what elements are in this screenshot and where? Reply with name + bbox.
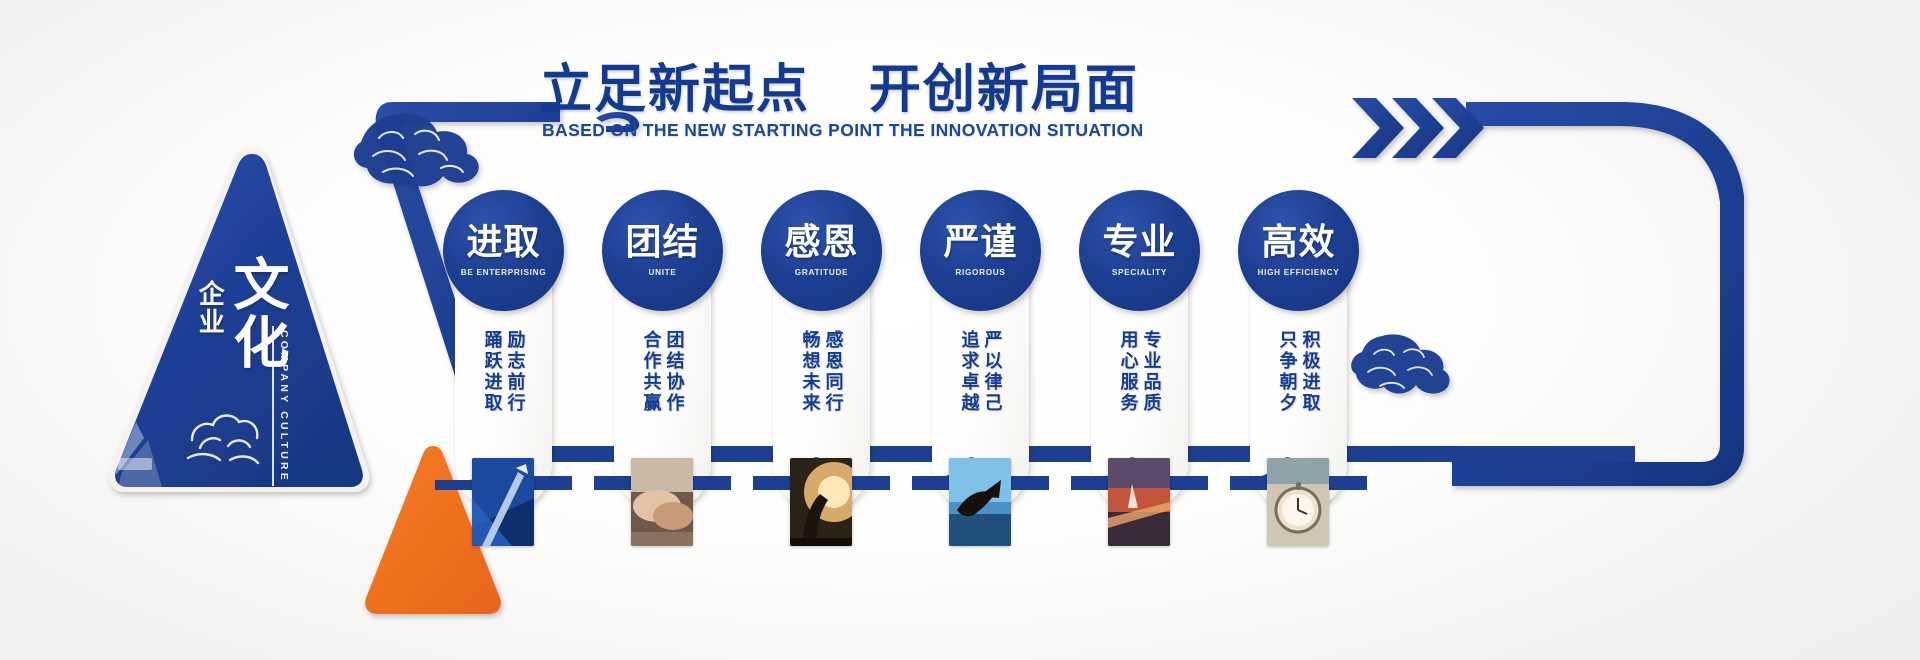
pill-photo	[631, 458, 693, 546]
wall-title-block: 立足新起点 开创新局面 BASED ON THE NEW STARTING PO…	[540, 62, 1260, 141]
pill-title-en: GRATITUDE	[795, 268, 848, 277]
value-pill-6[interactable]: 高效 HIGH EFFICIENCY 积极进取 只争朝夕	[1250, 190, 1347, 512]
cloud-ornament-left-icon	[345, 108, 485, 198]
title-chinese-part1: 立足新起点	[540, 61, 810, 119]
pill-title-cn: 进取	[466, 224, 540, 260]
title-chinese: 立足新起点 开创新局面	[540, 62, 1260, 118]
pill-motto-right: 积极进取	[1302, 330, 1320, 448]
pill-photo	[790, 458, 852, 546]
title-chinese-part2: 开创新局面	[869, 61, 1139, 119]
pill-circle-badge[interactable]: 专业 SPECIALITY	[1079, 190, 1200, 311]
value-pill-2[interactable]: 团结 UNITE 团结协作 合作共赢	[614, 190, 711, 512]
pill-motto: 专业品质 用心服务	[1099, 330, 1181, 448]
pill-circle-badge[interactable]: 高效 HIGH EFFICIENCY	[1238, 190, 1359, 311]
chevron-arrows-icon	[1352, 98, 1484, 158]
pill-motto-right: 专业品质	[1143, 330, 1161, 448]
pill-title-cn: 专业	[1102, 224, 1176, 260]
pill-title-en: UNITE	[648, 268, 676, 277]
value-pill-4[interactable]: 严谨 RIGOROUS 严以律己 追求卓越	[932, 190, 1029, 512]
pill-title-cn: 严谨	[943, 224, 1017, 260]
pill-motto: 感恩同行 畅想未来	[781, 330, 863, 448]
pill-motto: 团结协作 合作共赢	[622, 330, 704, 448]
pill-title-en: RIGOROUS	[955, 268, 1005, 277]
pill-motto-left: 只争朝夕	[1279, 330, 1297, 448]
pill-motto-left: 畅想未来	[802, 330, 820, 448]
title-english: BASED ON THE NEW STARTING POINT THE INNO…	[542, 120, 1260, 141]
pill-circle-badge[interactable]: 团结 UNITE	[602, 190, 723, 311]
pill-motto: 积极进取 只争朝夕	[1258, 330, 1340, 448]
pill-circle-badge[interactable]: 进取 BE ENTERPRISING	[443, 190, 564, 311]
pill-title-cn: 高效	[1261, 224, 1335, 260]
pill-photo	[1267, 458, 1329, 546]
pill-motto-left: 合作共赢	[643, 330, 661, 448]
pill-title-en: BE ENTERPRISING	[461, 268, 547, 277]
pill-motto-right: 团结协作	[666, 330, 684, 448]
pill-motto: 严以律己 追求卓越	[940, 330, 1022, 448]
pill-circle-badge[interactable]: 感恩 GRATITUDE	[761, 190, 882, 311]
pill-photo	[1108, 458, 1170, 546]
pill-photo	[949, 458, 1011, 546]
pill-title-cn: 团结	[625, 224, 699, 260]
pill-motto-left: 追求卓越	[961, 330, 979, 448]
value-pill-3[interactable]: 感恩 GRATITUDE 感恩同行 畅想未来	[773, 190, 870, 512]
pill-photo	[472, 458, 534, 546]
pill-circle-badge[interactable]: 严谨 RIGOROUS	[920, 190, 1041, 311]
culture-wall-scene: 企业 文化 COMPANY CULTURE 立足新起点 开创新局面 BASED …	[0, 0, 1920, 660]
pill-title-cn: 感恩	[784, 224, 858, 260]
pill-motto-right: 严以律己	[984, 330, 1002, 448]
pill-motto-right: 励志前行	[507, 330, 525, 448]
pill-motto: 励志前行 踊跃进取	[463, 330, 545, 448]
pill-motto-right: 感恩同行	[825, 330, 843, 448]
pill-title-en: SPECIALITY	[1112, 268, 1167, 277]
pill-title-en: HIGH EFFICIENCY	[1258, 268, 1340, 277]
value-pill-5[interactable]: 专业 SPECIALITY 专业品质 用心服务	[1091, 190, 1188, 512]
value-pills-row: 进取 BE ENTERPRISING 励志前行 踊跃进取	[455, 190, 1635, 520]
pill-motto-left: 用心服务	[1120, 330, 1138, 448]
value-pill-1[interactable]: 进取 BE ENTERPRISING 励志前行 踊跃进取	[455, 190, 552, 512]
pill-motto-left: 踊跃进取	[484, 330, 502, 448]
